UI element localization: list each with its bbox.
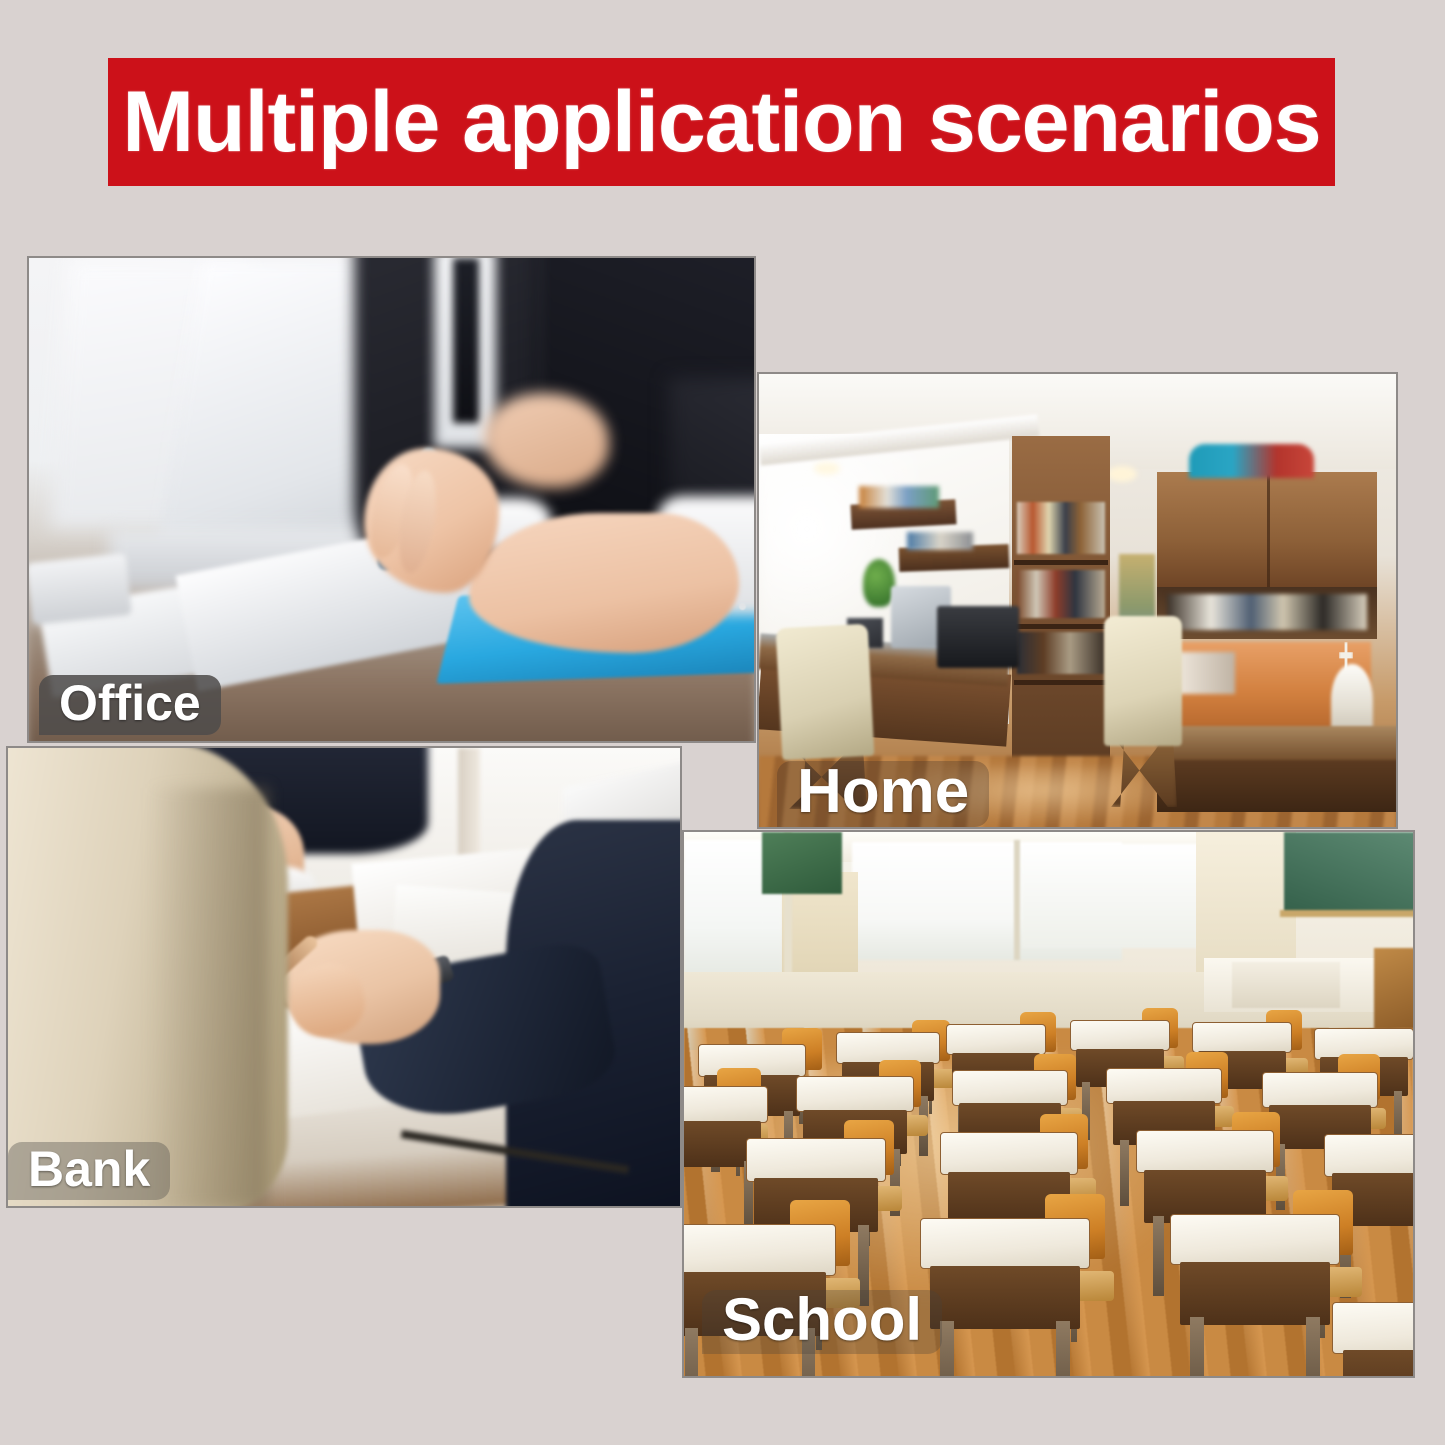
page-title: Multiple application scenarios: [122, 79, 1320, 165]
scenario-label-school: School: [702, 1290, 942, 1354]
scenario-photo-office: Office: [27, 256, 756, 743]
scenario-photo-bank: Bank: [6, 746, 682, 1208]
scenario-photo-home: Home: [757, 372, 1398, 829]
office-photo-illustration: [29, 258, 754, 741]
scenario-label-office: Office: [39, 675, 221, 735]
scenario-label-office-text: Office: [59, 678, 201, 728]
scenario-label-bank: Bank: [8, 1142, 170, 1200]
scenario-label-home-text: Home: [797, 761, 969, 823]
scenario-label-home: Home: [777, 761, 989, 827]
bank-photo-illustration: [8, 748, 680, 1206]
scenario-label-school-text: School: [722, 1290, 922, 1350]
scenario-label-bank-text: Bank: [28, 1144, 150, 1194]
header-banner: Multiple application scenarios: [108, 58, 1335, 186]
scenario-photo-school: School: [682, 830, 1415, 1378]
